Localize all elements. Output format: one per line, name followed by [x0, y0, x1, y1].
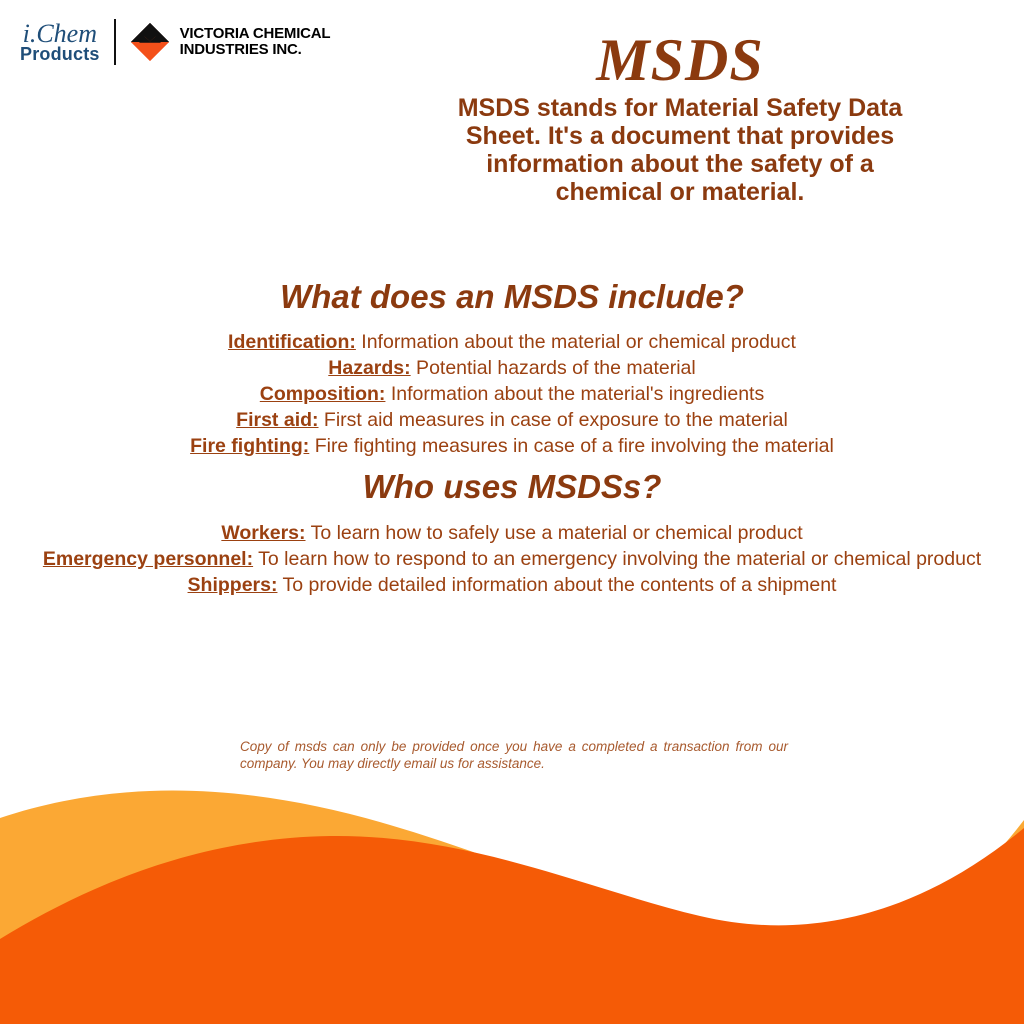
victoria-chemical-logo: VICTORIA CHEMICAL INDUSTRIES INC. — [130, 22, 331, 62]
victoria-name-line-1: VICTORIA CHEMICAL — [180, 26, 331, 42]
list-item-desc: First aid measures in case of exposure t… — [319, 409, 788, 431]
page-subtitle: MSDS stands for Material Safety Data She… — [430, 94, 930, 206]
section-heading-includes: What does an MSDS include? — [0, 278, 1024, 316]
list-item: Emergency personnel: To learn how to res… — [0, 547, 1024, 573]
section-who-uses-msds: Who uses MSDSs? Workers: To learn how to… — [0, 468, 1024, 599]
decorative-wave-graphic — [0, 764, 1024, 1024]
list-item-label: Emergency personnel: — [43, 548, 253, 570]
list-item-desc: To learn how to respond to an emergency … — [253, 548, 981, 570]
victoria-company-name: VICTORIA CHEMICAL INDUSTRIES INC. — [180, 26, 331, 58]
section-msds-includes: What does an MSDS include? Identificatio… — [0, 278, 1024, 460]
page-title: MSDS — [430, 30, 930, 90]
list-item-desc: Potential hazards of the material — [411, 357, 696, 379]
list-item-label: Workers: — [221, 522, 305, 544]
header-logo-bar: i.Chem Products VICTORIA CHEMICAL INDUST… — [20, 14, 330, 70]
ichem-products-logo: i.Chem Products — [20, 21, 114, 63]
includes-list: Identification: Information about the ma… — [0, 330, 1024, 460]
list-item: Shippers: To provide detailed informatio… — [0, 573, 1024, 599]
list-item-desc: To provide detailed information about th… — [277, 574, 836, 596]
list-item: Identification: Information about the ma… — [0, 330, 1024, 356]
list-item: Fire fighting: Fire fighting measures in… — [0, 434, 1024, 460]
victoria-name-line-2: INDUSTRIES INC. — [180, 42, 331, 58]
list-item: Composition: Information about the mater… — [0, 382, 1024, 408]
list-item: Hazards: Potential hazards of the materi… — [0, 356, 1024, 382]
title-block: MSDS MSDS stands for Material Safety Dat… — [430, 30, 930, 206]
list-item-desc: Information about the material's ingredi… — [385, 383, 764, 405]
list-item-desc: To learn how to safely use a material or… — [306, 522, 803, 544]
list-item-desc: Information about the material or chemic… — [356, 331, 796, 353]
list-item-label: Identification: — [228, 331, 356, 353]
list-item-label: Shippers: — [188, 574, 278, 596]
section-heading-who-uses: Who uses MSDSs? — [0, 468, 1024, 506]
list-item-label: First aid: — [236, 409, 318, 431]
logo-divider — [114, 19, 116, 65]
ichem-subtext: Products — [20, 45, 100, 63]
who-uses-list: Workers: To learn how to safely use a ma… — [0, 521, 1024, 599]
list-item-label: Fire fighting: — [190, 435, 309, 457]
list-item-desc: Fire fighting measures in case of a fire… — [309, 435, 834, 457]
list-item: Workers: To learn how to safely use a ma… — [0, 521, 1024, 547]
list-item-label: Hazards: — [328, 357, 410, 379]
victoria-diamond-icon — [130, 22, 170, 62]
list-item-label: Composition: — [260, 383, 386, 405]
list-item: First aid: First aid measures in case of… — [0, 408, 1024, 434]
